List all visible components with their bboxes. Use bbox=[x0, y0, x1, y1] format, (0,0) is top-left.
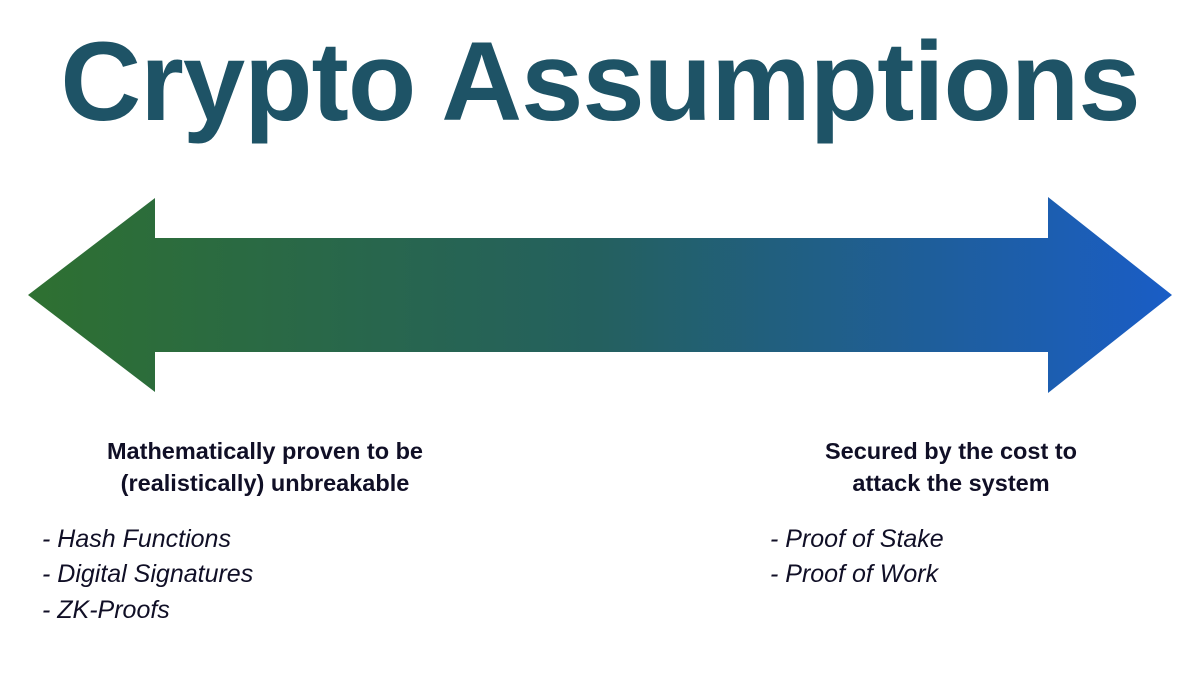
list-item: - Proof of Stake bbox=[770, 522, 1186, 558]
column-left-list: - Hash Functions - Digital Signatures - … bbox=[30, 522, 500, 629]
list-item: - Proof of Work bbox=[770, 557, 1186, 593]
list-item: - ZK-Proofs bbox=[42, 593, 500, 629]
list-item: - Hash Functions bbox=[42, 522, 500, 558]
column-crypto-economic: Secured by the cost to attack the system… bbox=[716, 436, 1186, 593]
column-right-heading: Secured by the cost to attack the system bbox=[716, 436, 1186, 500]
column-cryptographic: Mathematically proven to be (realistical… bbox=[30, 436, 500, 628]
column-right-list: - Proof of Stake - Proof of Work bbox=[716, 522, 1186, 593]
spectrum-arrow: Cryptographic Crypto-economic bbox=[0, 190, 1200, 400]
page-title: Crypto Assumptions bbox=[0, 26, 1200, 138]
list-item: - Digital Signatures bbox=[42, 557, 500, 593]
column-left-heading: Mathematically proven to be (realistical… bbox=[30, 436, 500, 500]
arrow-shape bbox=[28, 197, 1172, 393]
spectrum-arrow-graphic bbox=[0, 190, 1200, 400]
